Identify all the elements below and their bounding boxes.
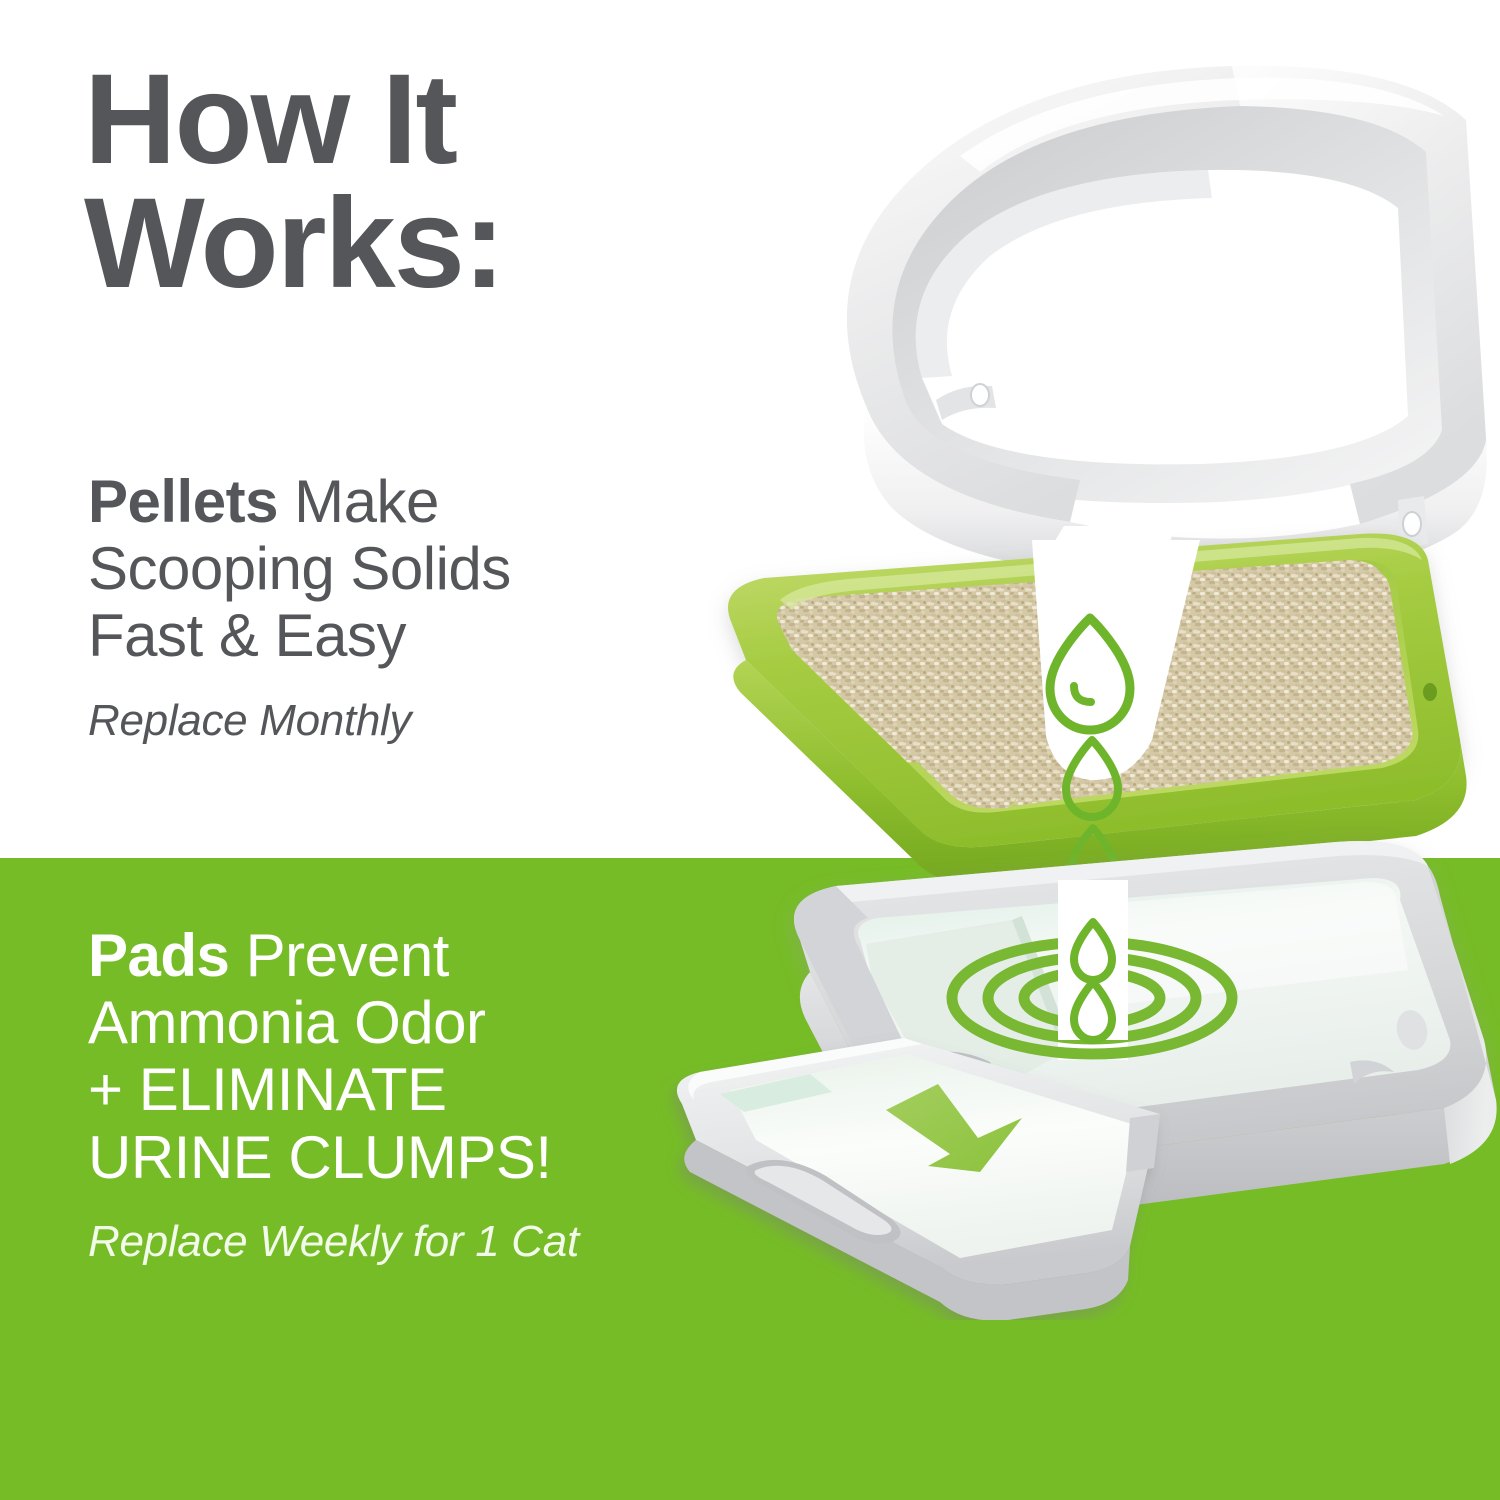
pads-line-4: URINE CLUMPS!: [88, 1124, 728, 1191]
headline-line-2: Works:: [84, 182, 744, 306]
pads-line-1-rest: Prevent: [229, 922, 448, 989]
pads-line-1: Pads Prevent: [88, 922, 728, 989]
pads-line-3: + ELIMINATE: [88, 1056, 728, 1123]
pads-note: Replace Weekly for 1 Cat: [88, 1217, 728, 1267]
pellets-line-1: Pellets Make: [88, 468, 708, 535]
pellets-line-3: Fast & Easy: [88, 602, 708, 669]
urine-stream-overlay: [1058, 880, 1128, 1040]
feature-block-pellets: Pellets Make Scooping Solids Fast & Easy…: [88, 468, 708, 746]
page-title: How It Works:: [84, 58, 744, 306]
pads-emphasis: Pads: [88, 922, 229, 989]
top-rim-hood: [847, 66, 1487, 581]
pellets-emphasis: Pellets: [88, 468, 278, 535]
pads-line-2: Ammonia Odor: [88, 989, 728, 1056]
pellets-line-2: Scooping Solids: [88, 535, 708, 602]
pellets-line-1-rest: Make: [278, 468, 439, 535]
pellets-note: Replace Monthly: [88, 696, 708, 746]
feature-block-pads: Pads Prevent Ammonia Odor + ELIMINATE UR…: [88, 922, 728, 1267]
headline-line-1: How It: [84, 58, 744, 182]
infographic-root: How It Works: Pellets Make Scooping Soli…: [0, 0, 1500, 1500]
product-illustration: [660, 40, 1500, 1320]
